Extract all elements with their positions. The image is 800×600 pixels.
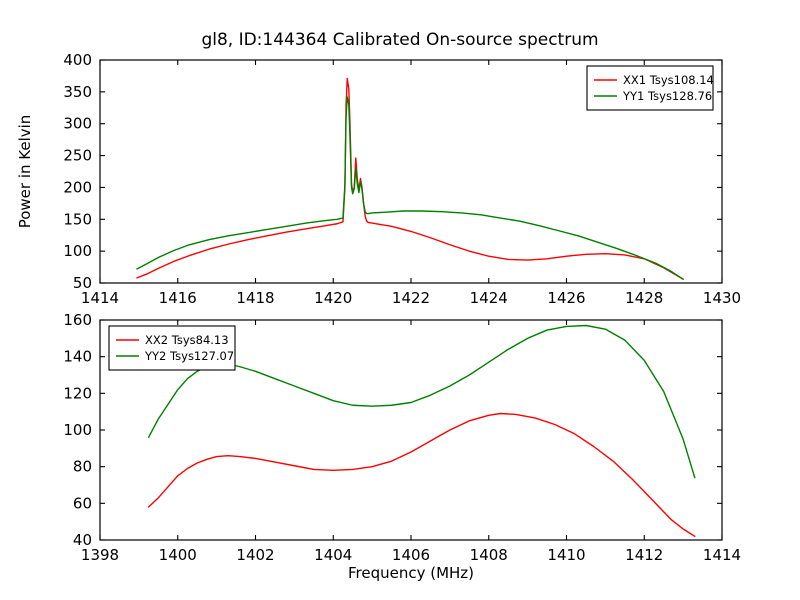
y-tick-label: 400 — [63, 51, 92, 69]
x-tick-label: 1424 — [470, 289, 508, 307]
y-tick-label: 120 — [63, 384, 92, 402]
y-tick-label: 300 — [63, 115, 92, 133]
legend: XX1 Tsys108.14YY1 Tsys128.76 — [587, 66, 714, 110]
y-tick-label: 100 — [63, 421, 92, 439]
y-tick-label: 50 — [73, 274, 92, 292]
legend-label-xx2: XX2 Tsys84.13 — [145, 333, 229, 347]
legend-label-xx1: XX1 Tsys108.14 — [623, 73, 714, 87]
y-tick-label: 150 — [63, 210, 92, 228]
x-tick-label: 1418 — [236, 289, 274, 307]
y-tick-label: 80 — [73, 458, 92, 476]
spectrum-figure: gl8, ID:144364 Calibrated On-source spec… — [0, 0, 800, 600]
x-tick-label: 1408 — [470, 546, 508, 564]
x-tick-label: 1402 — [236, 546, 274, 564]
y-tick-label: 250 — [63, 147, 92, 165]
y-tick-label: 350 — [63, 83, 92, 101]
bottom-panel: 1398140014021404140614081410141214144060… — [63, 311, 741, 564]
x-tick-label: 1428 — [625, 289, 663, 307]
page-title: gl8, ID:144364 Calibrated On-source spec… — [201, 30, 598, 50]
x-tick-label: 1420 — [314, 289, 352, 307]
x-tick-label: 1416 — [159, 289, 197, 307]
x-tick-label: 1410 — [547, 546, 585, 564]
y-tick-label: 40 — [73, 531, 92, 549]
legend: XX2 Tsys84.13YY2 Tsys127.07 — [109, 326, 235, 370]
y-axis-label: Power in Kelvin — [16, 115, 34, 229]
x-tick-label: 1422 — [392, 289, 430, 307]
y-tick-label: 160 — [63, 311, 92, 329]
x-tick-label: 1414 — [703, 546, 741, 564]
top-panel: 1414141614181420142214241426142814305010… — [16, 51, 741, 307]
y-tick-label: 140 — [63, 348, 92, 366]
x-tick-label: 1404 — [314, 546, 352, 564]
x-tick-label: 1406 — [392, 546, 430, 564]
legend-label-yy1: YY1 Tsys128.76 — [622, 89, 712, 103]
y-tick-label: 60 — [73, 494, 92, 512]
legend-label-yy2: YY2 Tsys127.07 — [144, 349, 234, 363]
x-tick-label: 1426 — [547, 289, 585, 307]
x-axis-label: Frequency (MHz) — [348, 564, 474, 582]
x-tick-label: 1400 — [159, 546, 197, 564]
y-tick-label: 100 — [63, 242, 92, 260]
x-tick-label: 1412 — [625, 546, 663, 564]
x-tick-label: 1430 — [703, 289, 741, 307]
plot-canvas: gl8, ID:144364 Calibrated On-source spec… — [0, 0, 800, 600]
y-tick-label: 200 — [63, 178, 92, 196]
